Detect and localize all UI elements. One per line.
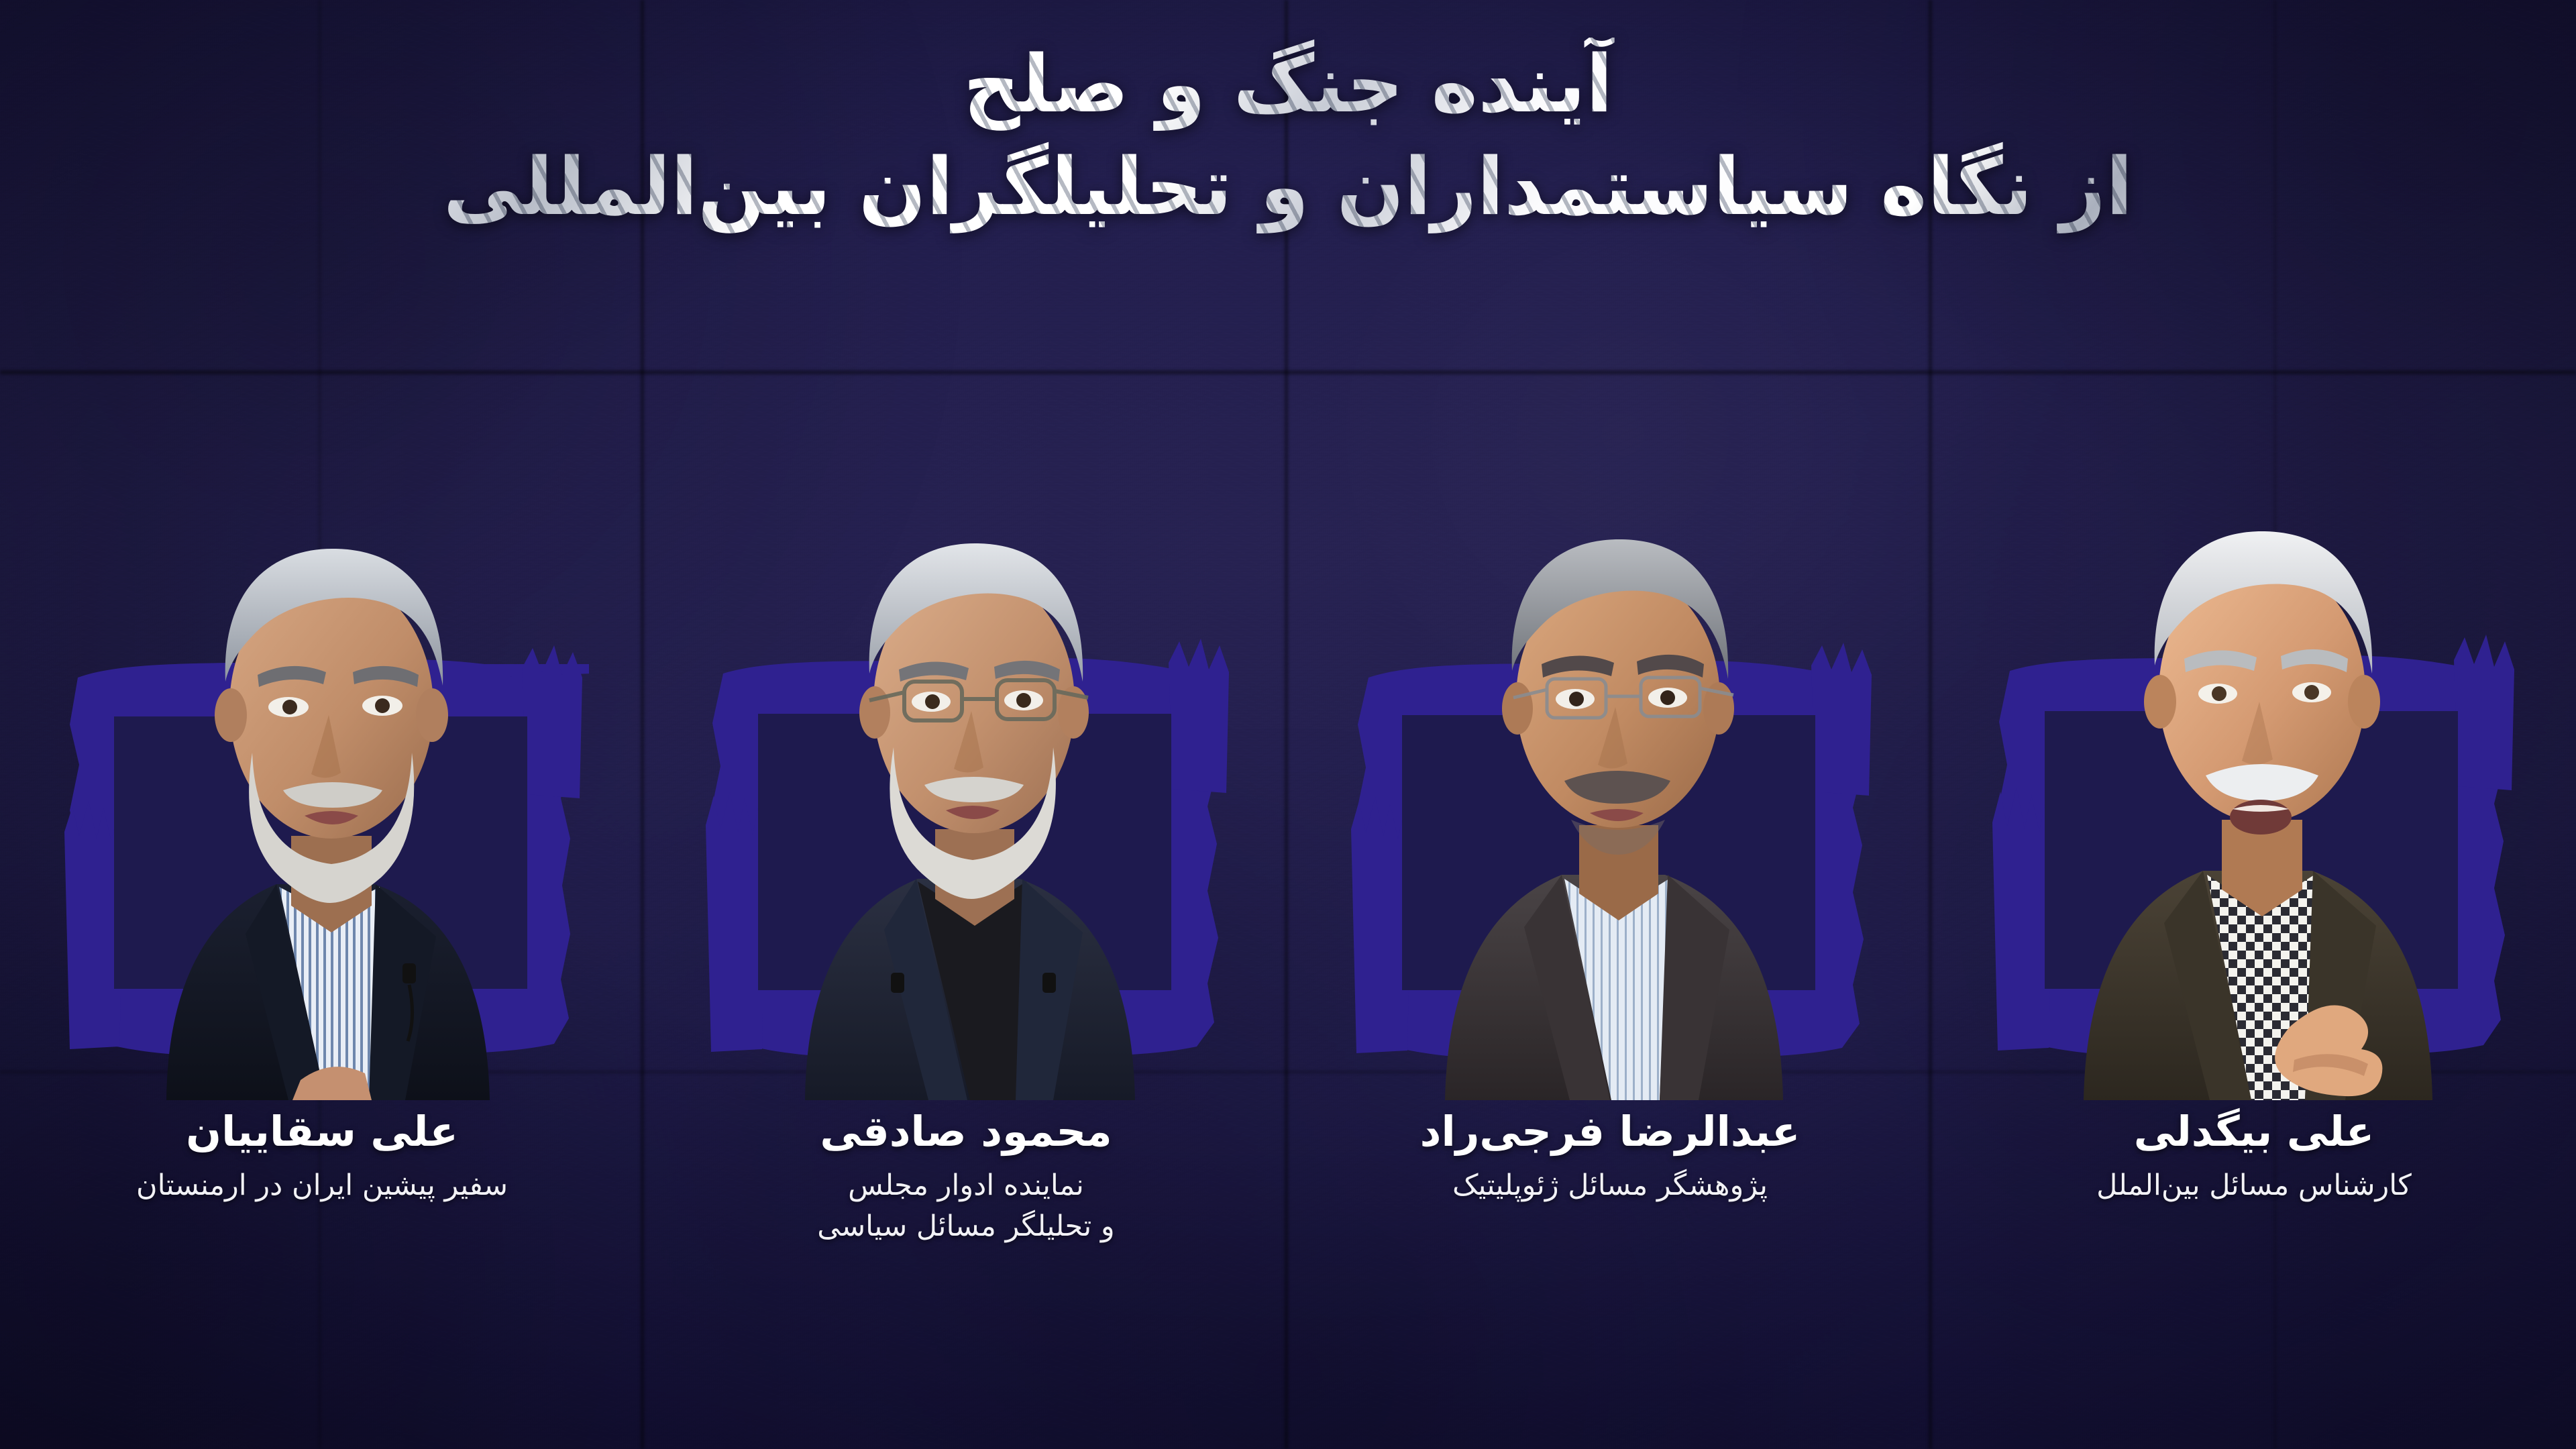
speaker-panel-4[interactable]: علی بیگدلی کارشناس مسائل بین‌الملل: [1932, 429, 2576, 1402]
speaker-panel-1[interactable]: علی سقاییان سفیر پیشین ایران در ارمنستان: [0, 429, 644, 1402]
title-line-2: از نگاه سیاستمداران و تحلیلگران بین‌المل…: [0, 140, 2576, 233]
portrait-photo: [644, 429, 1288, 1100]
speaker-caption: محمود صادقی نماینده ادوار مجلس و تحلیلگر…: [644, 1107, 1288, 1247]
speaker-panel-2[interactable]: محمود صادقی نماینده ادوار مجلس و تحلیلگر…: [644, 429, 1288, 1402]
speaker-role-line: و تحلیلگر مسائل سیاسی: [663, 1206, 1269, 1247]
speaker-role-line: پژوهشگر مسائل ژئوپلیتیک: [1307, 1165, 1913, 1206]
speaker-caption: عبدالرضا فرجی‌راد پژوهشگر مسائل ژئوپلیتی…: [1288, 1107, 1932, 1206]
speaker-role: نماینده ادوار مجلس و تحلیلگر مسائل سیاسی: [663, 1165, 1269, 1247]
speaker-name: محمود صادقی: [663, 1107, 1269, 1156]
speaker-role-line: کارشناس مسائل بین‌الملل: [1951, 1165, 2557, 1206]
portrait-photo: [1932, 429, 2576, 1100]
speaker-name: عبدالرضا فرجی‌راد: [1307, 1107, 1913, 1156]
background-seam-horizontal-1: [0, 370, 2576, 374]
poster-title: آینده جنگ و صلح از نگاه سیاستمداران و تح…: [0, 38, 2576, 233]
speaker-name: علی سقاییان: [19, 1107, 625, 1156]
speaker-panels: علی سقاییان سفیر پیشین ایران در ارمنستان: [0, 429, 2576, 1402]
speaker-panel-3[interactable]: عبدالرضا فرجی‌راد پژوهشگر مسائل ژئوپلیتی…: [1288, 429, 1932, 1402]
speaker-name: علی بیگدلی: [1951, 1107, 2557, 1156]
speaker-caption: علی سقاییان سفیر پیشین ایران در ارمنستان: [0, 1107, 644, 1206]
poster-stage: آینده جنگ و صلح از نگاه سیاستمداران و تح…: [0, 0, 2576, 1449]
portrait-photo: [1288, 429, 1932, 1100]
portrait-photo: [0, 429, 644, 1100]
speaker-role: پژوهشگر مسائل ژئوپلیتیک: [1307, 1165, 1913, 1206]
speaker-caption: علی بیگدلی کارشناس مسائل بین‌الملل: [1932, 1107, 2576, 1206]
speaker-role: کارشناس مسائل بین‌الملل: [1951, 1165, 2557, 1206]
title-line-1: آینده جنگ و صلح: [0, 38, 2576, 131]
speaker-role-line: نماینده ادوار مجلس: [663, 1165, 1269, 1206]
speaker-role-line: سفیر پیشین ایران در ارمنستان: [19, 1165, 625, 1206]
speaker-role: سفیر پیشین ایران در ارمنستان: [19, 1165, 625, 1206]
